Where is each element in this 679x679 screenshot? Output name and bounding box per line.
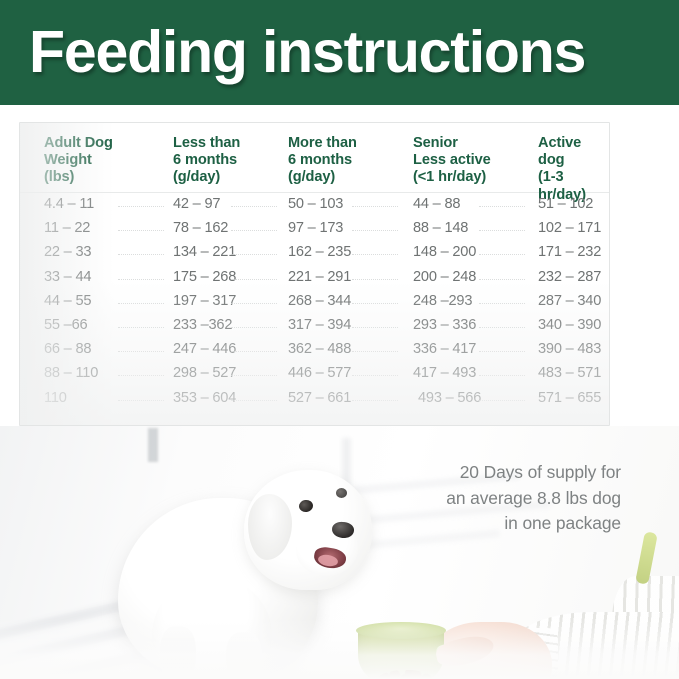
dotted-leader-icon (118, 400, 164, 401)
cell-less-than-6-months: 78 – 162 (173, 219, 228, 238)
dotted-leader-icon (352, 230, 398, 231)
table-row: 110 353 – 604 527 – 661 493 – 566 571 – … (20, 387, 609, 411)
dotted-leader-icon (352, 279, 398, 280)
cell-more-than-6-months: 50 – 103 (288, 195, 343, 214)
dotted-leader-icon (231, 279, 277, 280)
column-header-adult-dog-weight: Adult Dog Weight (lbs) (44, 135, 113, 187)
dotted-leader-icon (352, 303, 398, 304)
cell-senior: 293 – 336 (413, 316, 476, 335)
cell-less-than-6-months: 247 – 446 (173, 340, 236, 359)
dotted-leader-icon (118, 303, 164, 304)
dotted-leader-icon (479, 230, 525, 231)
cell-active-dog: 390 – 483 (538, 340, 601, 359)
cell-less-than-6-months: 175 – 268 (173, 268, 236, 287)
supply-caption: 20 Days of supply for an average 8.8 lbs… (446, 460, 621, 537)
table-surface (0, 619, 679, 679)
dotted-leader-icon (118, 230, 164, 231)
dotted-leader-icon (118, 206, 164, 207)
cell-weight: 22 – 33 (44, 243, 91, 262)
cell-more-than-6-months: 527 – 661 (288, 389, 351, 408)
dotted-leader-icon (231, 254, 277, 255)
cell-active-dog: 102 – 171 (538, 219, 601, 238)
dotted-leader-icon (118, 327, 164, 328)
dotted-leader-icon (231, 327, 277, 328)
cell-weight: 33 – 44 (44, 268, 91, 287)
title-banner: Feeding instructions (0, 0, 679, 105)
chair-leg-shape (148, 428, 158, 462)
cell-more-than-6-months: 268 – 344 (288, 292, 351, 311)
table-header-row: Adult Dog Weight (lbs) Less than 6 month… (20, 123, 609, 193)
cell-active-dog: 340 – 390 (538, 316, 601, 335)
dotted-leader-icon (231, 303, 277, 304)
table-row: 44 – 55 197 – 317 268 – 344 248 –293 287… (20, 290, 609, 314)
cell-less-than-6-months: 134 – 221 (173, 243, 236, 262)
cell-active-dog: 287 – 340 (538, 292, 601, 311)
dotted-leader-icon (118, 279, 164, 280)
dotted-leader-icon (231, 351, 277, 352)
cell-senior: 200 – 248 (413, 268, 476, 287)
page-title: Feeding instructions (29, 17, 585, 87)
dotted-leader-icon (352, 254, 398, 255)
table-row: 33 – 44 175 – 268 221 – 291 200 – 248 23… (20, 266, 609, 290)
table-row: 22 – 33 134 – 221 162 – 235 148 – 200 17… (20, 241, 609, 265)
dotted-leader-icon (118, 351, 164, 352)
lifestyle-photo: 20 Days of supply for an average 8.8 lbs… (0, 426, 679, 679)
dotted-leader-icon (352, 327, 398, 328)
dotted-leader-icon (479, 206, 525, 207)
cell-active-dog: 232 – 287 (538, 268, 601, 287)
cell-active-dog: 51 – 102 (538, 195, 593, 214)
column-header-more-than-6-months: More than 6 months (g/day) (288, 135, 357, 187)
dog-eye-right (336, 488, 347, 498)
dotted-leader-icon (231, 375, 277, 376)
cell-senior: 88 – 148 (413, 219, 468, 238)
cell-more-than-6-months: 162 – 235 (288, 243, 351, 262)
table-row: 66 – 88 247 – 446 362 – 488 336 – 417 39… (20, 338, 609, 362)
cell-senior: 493 – 566 (418, 389, 481, 408)
dotted-leader-icon (352, 400, 398, 401)
cell-weight: 4.4 – 11 (44, 195, 94, 214)
dotted-leader-icon (231, 230, 277, 231)
cell-active-dog: 571 – 655 (538, 389, 601, 408)
column-header-less-than-6-months: Less than 6 months (g/day) (173, 135, 240, 187)
table-row: 11 – 22 78 – 162 97 – 173 88 – 148 102 –… (20, 217, 609, 241)
table-body: 4.4 – 11 42 – 97 50 – 103 44 – 88 51 – 1… (20, 193, 609, 425)
cell-weight: 11 – 22 (44, 219, 90, 238)
cell-weight: 110 (44, 389, 67, 408)
dotted-leader-icon (118, 375, 164, 376)
cell-more-than-6-months: 446 – 577 (288, 364, 351, 383)
dotted-leader-icon (479, 254, 525, 255)
table-row: 55 –66 233 –362 317 – 394 293 – 336 340 … (20, 314, 609, 338)
dotted-leader-icon (352, 206, 398, 207)
cell-more-than-6-months: 362 – 488 (288, 340, 351, 359)
cell-more-than-6-months: 317 – 394 (288, 316, 351, 335)
cell-senior: 148 – 200 (413, 243, 476, 262)
dotted-leader-icon (118, 254, 164, 255)
cell-weight: 88 – 110 (44, 364, 98, 383)
cell-weight: 55 –66 (44, 316, 87, 335)
cell-active-dog: 483 – 571 (538, 364, 601, 383)
cell-senior: 248 –293 (413, 292, 472, 311)
dotted-leader-icon (479, 400, 525, 401)
feeding-instructions-infographic: Feeding instructions Adult Dog Weight (l… (0, 0, 679, 679)
table-row: 88 – 110 298 – 527 446 – 577 417 – 493 4… (20, 362, 609, 386)
dotted-leader-icon (352, 375, 398, 376)
cell-weight: 44 – 55 (44, 292, 91, 311)
feeding-chart-table: Adult Dog Weight (lbs) Less than 6 month… (19, 122, 610, 426)
cell-senior: 336 – 417 (413, 340, 476, 359)
cell-senior: 417 – 493 (413, 364, 476, 383)
cell-less-than-6-months: 42 – 97 (173, 195, 220, 214)
dotted-leader-icon (479, 279, 525, 280)
cell-senior: 44 – 88 (413, 195, 460, 214)
cell-less-than-6-months: 233 –362 (173, 316, 232, 335)
table-row: 4.4 – 11 42 – 97 50 – 103 44 – 88 51 – 1… (20, 193, 609, 217)
column-header-senior-less-active: Senior Less active (<1 hr/day) (413, 135, 491, 187)
dotted-leader-icon (479, 351, 525, 352)
cell-active-dog: 171 – 232 (538, 243, 601, 262)
dotted-leader-icon (352, 351, 398, 352)
dotted-leader-icon (231, 206, 277, 207)
dotted-leader-icon (231, 400, 277, 401)
cell-less-than-6-months: 298 – 527 (173, 364, 236, 383)
dotted-leader-icon (479, 303, 525, 304)
cell-less-than-6-months: 353 – 604 (173, 389, 236, 408)
cell-weight: 66 – 88 (44, 340, 91, 359)
cell-more-than-6-months: 97 – 173 (288, 219, 343, 238)
cell-less-than-6-months: 197 – 317 (173, 292, 236, 311)
dotted-leader-icon (479, 375, 525, 376)
dotted-leader-icon (479, 327, 525, 328)
cell-more-than-6-months: 221 – 291 (288, 268, 351, 287)
